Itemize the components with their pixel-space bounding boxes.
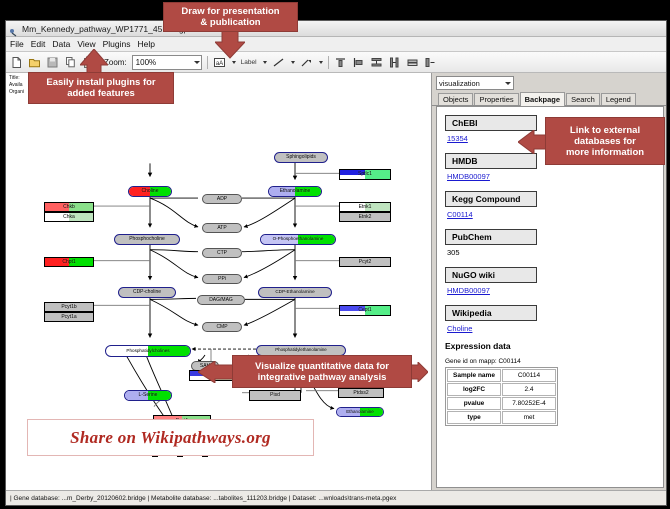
row-key: log2FC xyxy=(447,383,501,396)
pathway-gene-pcyt1b[interactable]: Pcyt1b xyxy=(44,302,94,312)
callout-visualize: Visualize quantitative data for integrat… xyxy=(232,355,412,388)
distribute-horizontal-icon[interactable] xyxy=(388,56,401,69)
align-left-icon[interactable] xyxy=(352,56,365,69)
pathway-node-o-phosphoethanolamine[interactable]: O-Phosphoethanolamine xyxy=(260,234,336,245)
new-file-icon[interactable] xyxy=(10,56,23,69)
node-label: CDP-Ethanolamine xyxy=(275,290,314,295)
db-entry-nugo-wiki: NuGO wiki HMDB00097 xyxy=(445,265,657,295)
node-label: Sptlc1 xyxy=(358,172,372,177)
tab-backpage[interactable]: Backpage xyxy=(520,92,565,106)
pathway-node-choline-top[interactable]: Choline xyxy=(128,186,172,197)
interaction-icon[interactable] xyxy=(300,56,313,69)
node-label: Pcyt2 xyxy=(359,260,372,265)
panel-tabs: Objects Properties Backpage Search Legen… xyxy=(432,91,666,106)
node-label: Pisd xyxy=(270,393,280,398)
callout-line-1: Visualize quantitative data for xyxy=(255,361,389,372)
row-key: Sample name xyxy=(447,369,501,382)
toolbar-separator xyxy=(328,56,329,69)
pathway-cofactor-ppi[interactable]: PPi xyxy=(202,274,242,284)
node-label: CTP xyxy=(217,251,227,256)
pathway-node-ethanolamine-top[interactable]: Ethanolamine xyxy=(268,186,322,197)
db-value: 305 xyxy=(447,248,657,257)
node-label: Phosphatidylcholines xyxy=(126,349,169,354)
node-label: Etnk1 xyxy=(359,205,372,210)
align-top-icon[interactable] xyxy=(334,56,347,69)
pathway-cofactor-ctp[interactable]: CTP xyxy=(202,248,242,258)
pathway-cofactor-cmp[interactable]: CMP xyxy=(202,322,242,332)
node-label: Pcyt1a xyxy=(61,315,76,320)
callout-link-arrow xyxy=(518,130,548,154)
node-label: DAG/MAG xyxy=(209,298,233,303)
pathway-gene-sptlc1[interactable]: Sptlc1 xyxy=(339,169,391,180)
callout-line-2: & publication xyxy=(200,17,260,28)
pathway-cofactor-atp[interactable]: ATP xyxy=(202,223,242,233)
db-name: HMDB xyxy=(445,153,537,169)
toolbar-separator xyxy=(207,56,208,69)
meta-title: Title: xyxy=(9,75,24,82)
pathway-node-sphingolipids[interactable]: Sphingolipids xyxy=(274,152,328,163)
visualization-row: visualization xyxy=(432,73,666,91)
callout-line-1: Link to external xyxy=(570,125,640,136)
callout-plugins: Easily install plugins for added feature… xyxy=(28,72,174,104)
zoom-select[interactable]: 100% xyxy=(132,55,202,70)
open-folder-icon[interactable] xyxy=(28,56,41,69)
menu-data[interactable]: Data xyxy=(52,39,70,49)
row-key: type xyxy=(447,411,501,424)
callout-line-3: more information xyxy=(566,147,644,158)
node-label: CMP xyxy=(216,325,227,330)
pathway-gene-pcyt1a[interactable]: Pcyt1a xyxy=(44,312,94,322)
table-row: pvalue 7.80252E-4 xyxy=(447,397,556,410)
db-link[interactable]: HMDB00097 xyxy=(447,286,657,295)
pathway-node-cdp-choline[interactable]: CDP-choline xyxy=(118,287,176,298)
pathway-gene-pcyt2[interactable]: Pcyt2 xyxy=(339,257,391,267)
menu-help[interactable]: Help xyxy=(138,39,155,49)
chevron-down-icon[interactable] xyxy=(263,61,267,64)
node-label: Chka xyxy=(63,215,75,220)
callout-line-2: databases for xyxy=(574,136,636,147)
pathway-cofactor-dag-mag[interactable]: DAG/MAG xyxy=(197,295,245,305)
pathway-gene-cept1[interactable]: Cept1 xyxy=(339,305,391,316)
tab-search[interactable]: Search xyxy=(566,93,600,105)
node-label: L-Serine xyxy=(139,393,158,398)
row-value: met xyxy=(502,411,556,424)
callout-line-1: Draw for presentation xyxy=(181,6,279,17)
pathway-node-phosphatidylcholines[interactable]: Phosphatidylcholines xyxy=(105,345,191,357)
db-entry-kegg-compound: Kegg Compound C00114 xyxy=(445,189,657,219)
callout-line-2: added features xyxy=(67,88,135,99)
chevron-down-icon[interactable] xyxy=(291,61,295,64)
node-label: CDP-choline xyxy=(133,290,161,295)
table-row: Sample name C00114 xyxy=(447,369,556,382)
callout-link-databases: Link to external databases for more info… xyxy=(545,117,665,165)
node-label: ADP xyxy=(217,197,227,202)
meta-availability: Availa xyxy=(9,82,24,89)
node-label: Ptdss2 xyxy=(353,391,368,396)
callout-line-2: integrative pathway analysis xyxy=(258,372,387,383)
callout-draw-arrow xyxy=(215,31,245,61)
tab-properties[interactable]: Properties xyxy=(474,93,518,105)
copy-icon[interactable] xyxy=(64,56,77,69)
row-value: 7.80252E-4 xyxy=(502,397,556,410)
node-label: ATP xyxy=(217,226,226,231)
row-key: pvalue xyxy=(447,397,501,410)
stack-icon[interactable] xyxy=(406,56,419,69)
row-value: 2.4 xyxy=(502,383,556,396)
expression-data-table: Sample name C00114 log2FC 2.4 pvalue 7.8… xyxy=(445,367,558,426)
node-label: Phosphocholine xyxy=(129,237,165,242)
chevron-down-icon xyxy=(505,82,511,85)
node-label: Chkb xyxy=(63,205,75,210)
node-label: PPi xyxy=(218,277,226,282)
db-name: ChEBI xyxy=(445,115,537,131)
menu-edit[interactable]: Edit xyxy=(31,39,46,49)
db-link[interactable]: Choline xyxy=(447,324,657,333)
visualization-select[interactable]: visualization xyxy=(436,76,514,90)
distribute-vertical-icon[interactable] xyxy=(370,56,383,69)
table-row: type met xyxy=(447,411,556,424)
callout-share-box: Share on Wikipathways.org xyxy=(27,419,314,456)
status-bar: | Gene database: ...m_Derby_20120602.bri… xyxy=(6,490,666,505)
line-icon[interactable] xyxy=(272,56,285,69)
pathway-node-phosphocholine[interactable]: Phosphocholine xyxy=(114,234,180,245)
chevron-down-icon[interactable] xyxy=(319,61,323,64)
node-label: Ethanolamine xyxy=(280,189,311,194)
pathway-gene-etnk2[interactable]: Etnk2 xyxy=(339,212,391,222)
node-label: Etnk2 xyxy=(359,215,372,220)
pathway-gene-pisd[interactable]: Pisd xyxy=(249,390,301,401)
zoom-value: 100% xyxy=(136,58,156,67)
node-label: Pcyt1b xyxy=(61,305,76,310)
menu-plugins[interactable]: Plugins xyxy=(103,39,131,49)
pathway-node-l-serine-left[interactable]: L-Serine xyxy=(124,390,172,401)
tab-legend[interactable]: Legend xyxy=(601,93,636,105)
pathvisio-icon xyxy=(9,24,18,33)
group-icon[interactable] xyxy=(424,56,437,69)
db-name: Wikipedia xyxy=(445,305,537,321)
node-label: Cept1 xyxy=(358,308,371,313)
pathway-node-ethanolamine-right[interactable]: Ethanolamine xyxy=(336,407,384,417)
pathway-cofactor-adp[interactable]: ADP xyxy=(202,194,242,204)
node-label: O-Phosphoethanolamine xyxy=(273,237,324,242)
pathway-gene-chka[interactable]: Chka xyxy=(44,212,94,222)
callout-draw: Draw for presentation & publication xyxy=(163,2,298,32)
title-bar: Mm_Kennedy_pathway_WP1771_45176.gpml xyxy=(6,21,666,37)
node-label: Choline xyxy=(142,189,159,194)
db-name: NuGO wiki xyxy=(445,267,537,283)
db-entry-pubchem: PubChem 305 xyxy=(445,227,657,257)
node-label: Sphingolipids xyxy=(286,155,316,160)
pathway-node-cdp-ethanolamine[interactable]: CDP-Ethanolamine xyxy=(258,287,332,298)
callout-visualize-arrow xyxy=(198,361,234,383)
menu-file[interactable]: File xyxy=(10,39,24,49)
tab-objects[interactable]: Objects xyxy=(438,93,473,105)
meta-organism: Organi xyxy=(9,89,24,96)
db-entry-wikipedia: Wikipedia Choline xyxy=(445,303,657,333)
row-value: C00114 xyxy=(502,369,556,382)
pathway-meta-info: Title: Availa Organi xyxy=(9,75,24,96)
db-link[interactable]: C00114 xyxy=(447,210,657,219)
pathway-gene-chpt1[interactable]: Chpt1 xyxy=(44,257,94,267)
pathway-gene-etnk1[interactable]: Etnk1 xyxy=(339,202,391,212)
db-link[interactable]: HMDB00097 xyxy=(447,172,657,181)
screenshot-root: Mm_Kennedy_pathway_WP1771_45176.gpml Fil… xyxy=(0,0,670,509)
pathway-gene-ptdss2[interactable]: Ptdss2 xyxy=(338,388,384,398)
table-row: log2FC 2.4 xyxy=(447,383,556,396)
visualization-value: visualization xyxy=(439,79,480,88)
gene-id-line: Gene id on mapp: C00114 xyxy=(445,358,657,365)
status-text: | Gene database: ...m_Derby_20120602.bri… xyxy=(10,495,396,502)
callout-line-1: Easily install plugins for xyxy=(46,77,155,88)
expression-data-heading: Expression data xyxy=(445,341,657,351)
save-icon[interactable] xyxy=(46,56,59,69)
share-text: Share on Wikipathways.org xyxy=(70,428,271,448)
svg-text:aA: aA xyxy=(216,61,223,67)
menu-view[interactable]: View xyxy=(77,39,95,49)
db-name: PubChem xyxy=(445,229,537,245)
node-label: Chpt1 xyxy=(62,260,75,265)
node-label: Phosphatidylethanolamine xyxy=(275,348,327,352)
pathway-gene-chkb[interactable]: Chkb xyxy=(44,202,94,212)
db-name: Kegg Compound xyxy=(445,191,537,207)
chevron-down-icon xyxy=(194,61,200,64)
node-label: Ethanolamine xyxy=(346,410,374,415)
